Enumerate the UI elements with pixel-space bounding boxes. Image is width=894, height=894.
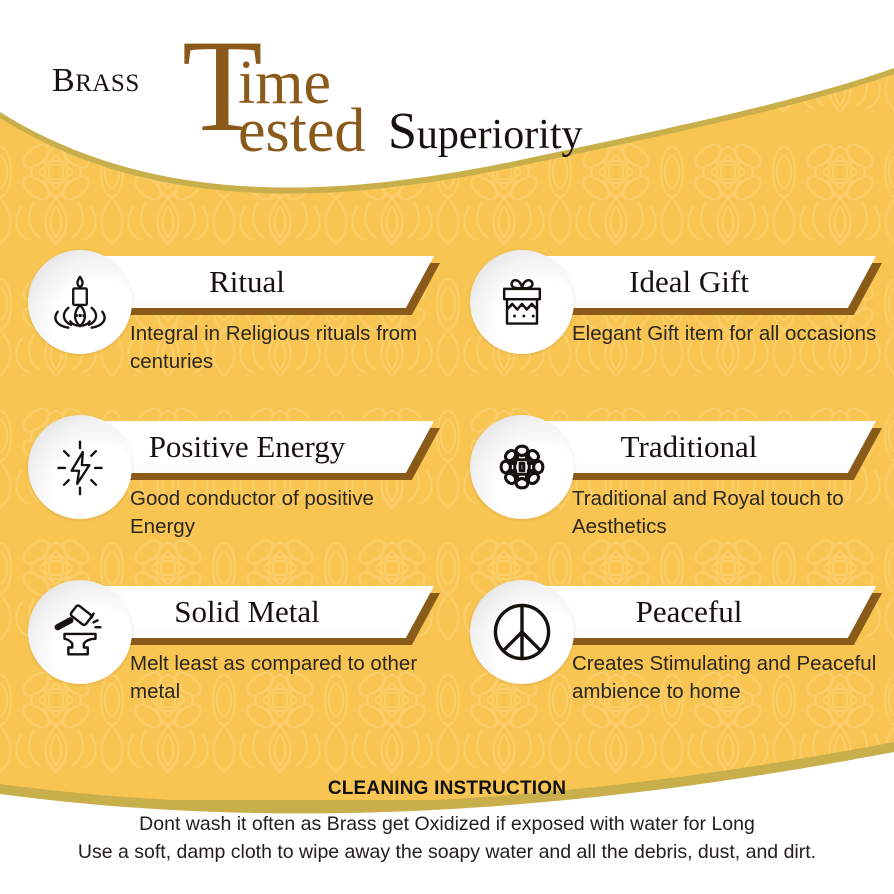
hammer-anvil-icon <box>28 580 132 684</box>
header: BRASS T ime ested Superiority <box>0 0 894 150</box>
feature-description: Good conductor of positive Energy <box>130 485 440 542</box>
ribbon-banner: Solid Metal <box>82 586 434 638</box>
feature-description: Integral in Religious rituals from centu… <box>130 320 440 377</box>
cleaning-instruction-body: Dont wash it often as Brass get Oxidized… <box>0 811 894 866</box>
feature-card-solid-metal: Solid Metal Melt least as compared to ot… <box>20 578 440 738</box>
feature-card-traditional: Traditional <box>462 413 882 573</box>
feature-grid: Ritual Integral in Religious rituals fro… <box>0 248 894 758</box>
cleaning-instruction-section: CLEANING INSTRUCTION Dont wash it often … <box>0 778 894 866</box>
candle-lotus-icon <box>28 250 132 354</box>
ribbon-banner: Ritual <box>82 256 434 308</box>
brand-word-brass: BRASS <box>52 64 140 98</box>
superiority-initial: S <box>388 103 417 160</box>
brass-smallcaps: RASS <box>75 70 140 97</box>
feature-card-ideal-gift: Ideal Gift <box>462 248 882 408</box>
brass-initial: B <box>52 62 75 99</box>
feature-description: Elegant Gift item for all occasions <box>572 320 882 348</box>
feature-card-peaceful: Peaceful Creates Stimulating and Peacefu… <box>462 578 882 738</box>
headline-word-superiority: Superiority <box>388 106 583 158</box>
ribbon-banner: Positive Energy <box>82 421 434 473</box>
ribbon-banner: Peaceful <box>524 586 876 638</box>
headline-word-tested: ested <box>238 100 365 162</box>
ribbon-banner: Traditional <box>524 421 876 473</box>
infographic-poster: BRASS T ime ested Superiority Ritual <box>0 0 894 894</box>
feature-description: Creates Stimulating and Peaceful ambienc… <box>572 650 882 707</box>
ribbon-banner: Ideal Gift <box>524 256 876 308</box>
cleaning-line-1: Dont wash it often as Brass get Oxidized… <box>0 811 894 839</box>
feature-card-positive-energy: Positive Energy Good conductor of positi… <box>20 413 440 573</box>
feature-description: Melt least as compared to other metal <box>130 650 440 707</box>
lightning-bolt-icon <box>28 415 132 519</box>
endless-knot-icon <box>470 415 574 519</box>
feature-card-ritual: Ritual Integral in Religious rituals fro… <box>20 248 440 408</box>
superiority-rest: uperiority <box>417 112 583 158</box>
cleaning-instruction-heading: CLEANING INSTRUCTION <box>0 778 894 800</box>
feature-description: Traditional and Royal touch to Aesthetic… <box>572 485 882 542</box>
peace-symbol-icon <box>470 580 574 684</box>
cleaning-line-2: Use a soft, damp cloth to wipe away the … <box>0 839 894 867</box>
gift-box-icon <box>470 250 574 354</box>
